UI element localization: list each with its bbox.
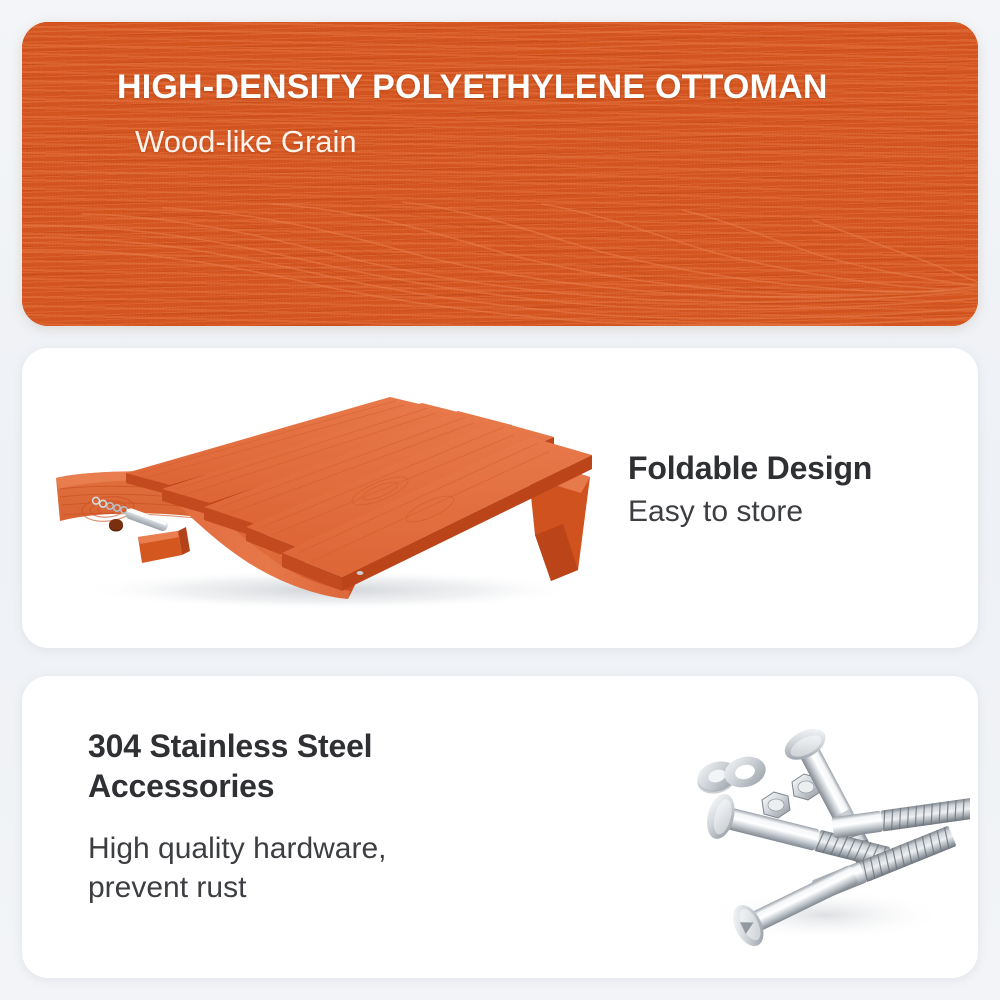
hardware-heading-line1: 304 Stainless Steel <box>88 726 608 766</box>
hardware-body-line2: prevent rust <box>88 868 608 907</box>
foldable-text-block: Foldable Design Easy to store <box>628 450 968 529</box>
ottoman-product-image <box>30 385 630 615</box>
hardware-product-image <box>670 700 970 960</box>
hero-subtitle: Wood-like Grain <box>135 124 357 160</box>
hardware-body-line1: High quality hardware, <box>88 829 608 868</box>
hero-banner: HIGH-DENSITY POLYETHYLENE OTTOMAN Wood-l… <box>22 22 978 326</box>
hero-title: HIGH-DENSITY POLYETHYLENE OTTOMAN <box>117 68 828 107</box>
ottoman-foot-block <box>138 527 190 563</box>
ottoman-slats <box>126 397 592 591</box>
hex-nut <box>762 792 790 818</box>
hardware-heading-line2: Accessories <box>88 766 608 806</box>
hardware-text-block: 304 Stainless Steel Accessories High qua… <box>88 726 608 907</box>
foldable-body: Easy to store <box>628 495 968 530</box>
foldable-heading: Foldable Design <box>628 450 968 487</box>
infographic-page: HIGH-DENSITY POLYETHYLENE OTTOMAN Wood-l… <box>0 0 1000 1000</box>
